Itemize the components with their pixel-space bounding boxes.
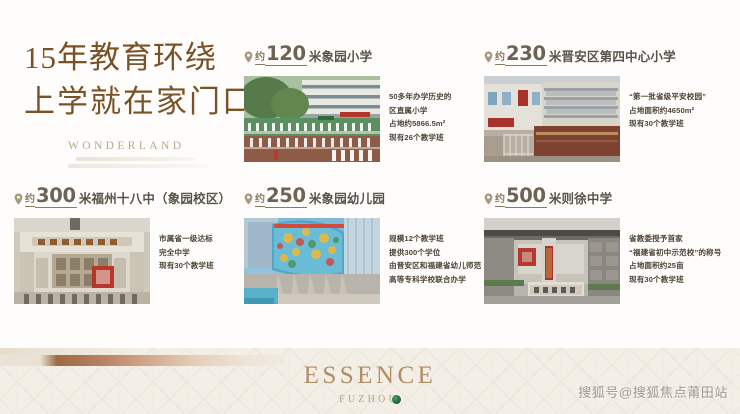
brand-subtitle: FUZHOU bbox=[339, 394, 399, 405]
school-fact: 省教委授予首家 bbox=[629, 232, 721, 246]
school-facts: 市属省一级达标 完全中学 现有30个教学班 bbox=[159, 218, 242, 304]
school-fact: 现有26个教学班 bbox=[389, 131, 472, 145]
school-card-heading: 约 120 米象园小学 bbox=[244, 42, 472, 66]
school-card-heading: 约 250 米象园幼儿园 bbox=[244, 184, 472, 208]
school-facts: 规模12个教学班 提供300个学位 由晋安区和福建省幼儿师范 高等专科学校联合办… bbox=[389, 218, 481, 304]
school-card: 约 300 米福州十八中（象园校区） bbox=[14, 184, 242, 304]
hero-subtitle: WONDERLAND bbox=[68, 140, 236, 152]
school-card-body: 省教委授予首家 “福建省初中示范校”的称号 占地面积约25亩 现有30个教学班 bbox=[484, 218, 712, 304]
school-facts: 省教委授予首家 “福建省初中示范校”的称号 占地面积约25亩 现有30个教学班 bbox=[629, 218, 721, 304]
school-fact: 占地面积约25亩 bbox=[629, 259, 721, 273]
school-card-heading: 约 230 米晋安区第四中心小学 bbox=[484, 42, 712, 66]
brand-sub-wrap: FUZHOU bbox=[339, 394, 401, 405]
school-fact: 规模12个教学班 bbox=[389, 232, 481, 246]
hero-headline: 15年教育环绕 上学就在家门口 WONDERLAND bbox=[24, 36, 236, 186]
fuzhou-no18-middle-school-photo bbox=[14, 218, 150, 304]
distance-value: 250 bbox=[265, 186, 307, 208]
school-fact: 区直属小学 bbox=[389, 104, 472, 118]
school-card: 约 230 米晋安区第四中心小学 bbox=[484, 42, 712, 162]
school-card: 约 120 米象园小学 bbox=[244, 42, 472, 162]
school-card-body: “第一批省级平安校园” 占地面积约4650m² 现有30个教学班 bbox=[484, 76, 712, 162]
distance-value: 230 bbox=[505, 44, 547, 66]
green-gem-icon bbox=[392, 395, 401, 404]
school-fact: 占地约5866.5m² bbox=[389, 117, 472, 131]
hero-line-2: 上学就在家门口 bbox=[24, 80, 236, 124]
school-name: 米则徐中学 bbox=[549, 188, 613, 207]
map-pin-icon bbox=[14, 193, 23, 205]
distance-value: 300 bbox=[35, 186, 77, 208]
school-card-body: 规模12个教学班 提供300个学位 由晋安区和福建省幼儿师范 高等专科学校联合办… bbox=[244, 218, 472, 304]
school-name: 米象园幼儿园 bbox=[309, 188, 385, 207]
map-pin-icon bbox=[484, 51, 493, 63]
slide-root: 15年教育环绕 上学就在家门口 WONDERLAND 约 120 米象园小学 bbox=[0, 0, 740, 414]
xiangyuan-kindergarten-photo bbox=[244, 218, 380, 304]
school-fact: 现有30个教学班 bbox=[629, 273, 721, 287]
footer-band: ESSENCE FUZHOU bbox=[0, 348, 740, 414]
approx-label: 约 bbox=[495, 48, 505, 65]
school-name: 米晋安区第四中心小学 bbox=[549, 46, 676, 65]
school-fact: 50多年办学历史的 bbox=[389, 90, 472, 104]
approx-label: 约 bbox=[255, 190, 265, 207]
school-fact: 市属省一级达标 bbox=[159, 232, 242, 246]
school-fact: 现有30个教学班 bbox=[159, 259, 242, 273]
map-pin-icon bbox=[484, 193, 493, 205]
school-fact: 完全中学 bbox=[159, 246, 242, 260]
school-fact: 由晋安区和福建省幼儿师范 bbox=[389, 259, 481, 273]
school-card: 约 500 米则徐中学 bbox=[484, 184, 712, 304]
school-card-body: 市属省一级达标 完全中学 现有30个教学班 bbox=[14, 218, 242, 304]
map-pin-icon bbox=[244, 51, 253, 63]
xiangyuan-primary-school-photo bbox=[244, 76, 380, 162]
distance-value: 500 bbox=[505, 186, 547, 208]
approx-label: 约 bbox=[255, 48, 265, 65]
school-facts: 50多年办学历史的 区直属小学 占地约5866.5m² 现有26个教学班 bbox=[389, 76, 472, 162]
hero-line-1: 15年教育环绕 bbox=[24, 36, 236, 80]
watermark: 搜狐号@搜狐焦点莆田站 bbox=[578, 382, 728, 401]
school-card-heading: 约 500 米则徐中学 bbox=[484, 184, 712, 208]
zexu-middle-school-photo bbox=[484, 218, 620, 304]
approx-label: 约 bbox=[25, 190, 35, 207]
school-fact: 提供300个学位 bbox=[389, 246, 481, 260]
jinan-fourth-central-primary-school-photo bbox=[484, 76, 620, 162]
school-fact: 高等专科学校联合办学 bbox=[389, 273, 481, 287]
school-facts: “第一批省级平安校园” 占地面积约4650m² 现有30个教学班 bbox=[629, 76, 712, 162]
distance-value: 120 bbox=[265, 44, 307, 66]
school-fact: 占地面积约4650m² bbox=[629, 104, 712, 118]
hero-decor-line-2 bbox=[68, 164, 208, 168]
school-name: 米福州十八中（象园校区） bbox=[79, 188, 231, 207]
school-fact: “福建省初中示范校”的称号 bbox=[629, 246, 721, 260]
school-fact: 现有30个教学班 bbox=[629, 117, 712, 131]
school-card-heading: 约 300 米福州十八中（象园校区） bbox=[14, 184, 242, 208]
school-card: 约 250 米象园幼儿园 bbox=[244, 184, 472, 304]
approx-label: 约 bbox=[495, 190, 505, 207]
school-name: 米象园小学 bbox=[309, 46, 373, 65]
school-fact: “第一批省级平安校园” bbox=[629, 90, 712, 104]
school-card-body: 50多年办学历史的 区直属小学 占地约5866.5m² 现有26个教学班 bbox=[244, 76, 472, 162]
hero-decor-line-1 bbox=[76, 157, 196, 161]
map-pin-icon bbox=[244, 193, 253, 205]
